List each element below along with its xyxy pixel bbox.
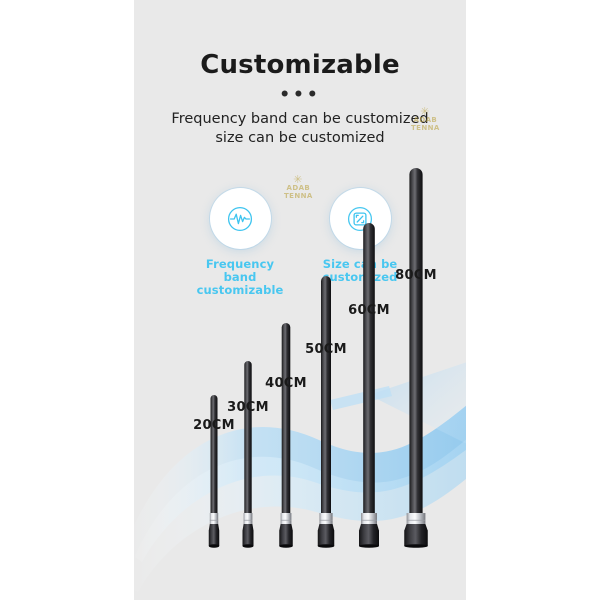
antenna-30cm[interactable] xyxy=(233,357,263,548)
antenna-graphic xyxy=(271,319,301,548)
antenna-comparison-group: 20CM30CM40CM50CM60CM80CM xyxy=(134,0,466,600)
antenna-80cm[interactable] xyxy=(401,164,431,548)
product-detail-image: Customizable ••• Frequency band can be c… xyxy=(0,0,600,600)
antenna-size-label-60cm: 60CM xyxy=(348,303,390,318)
antenna-graphic xyxy=(233,357,263,548)
antenna-50cm[interactable] xyxy=(311,272,341,548)
antenna-graphic xyxy=(311,272,341,548)
antenna-40cm[interactable] xyxy=(271,319,301,548)
antenna-20cm[interactable] xyxy=(199,391,229,548)
antenna-60cm[interactable] xyxy=(354,219,384,548)
product-panel: Customizable ••• Frequency band can be c… xyxy=(134,0,466,600)
antenna-graphic xyxy=(401,164,431,548)
antenna-size-label-50cm: 50CM xyxy=(305,342,347,357)
antenna-size-label-20cm: 20CM xyxy=(193,418,235,433)
antenna-graphic xyxy=(354,219,384,548)
antenna-size-label-40cm: 40CM xyxy=(265,376,307,391)
antenna-graphic xyxy=(199,391,229,548)
antenna-size-label-30cm: 30CM xyxy=(227,400,269,415)
antenna-size-label-80cm: 80CM xyxy=(395,268,437,283)
